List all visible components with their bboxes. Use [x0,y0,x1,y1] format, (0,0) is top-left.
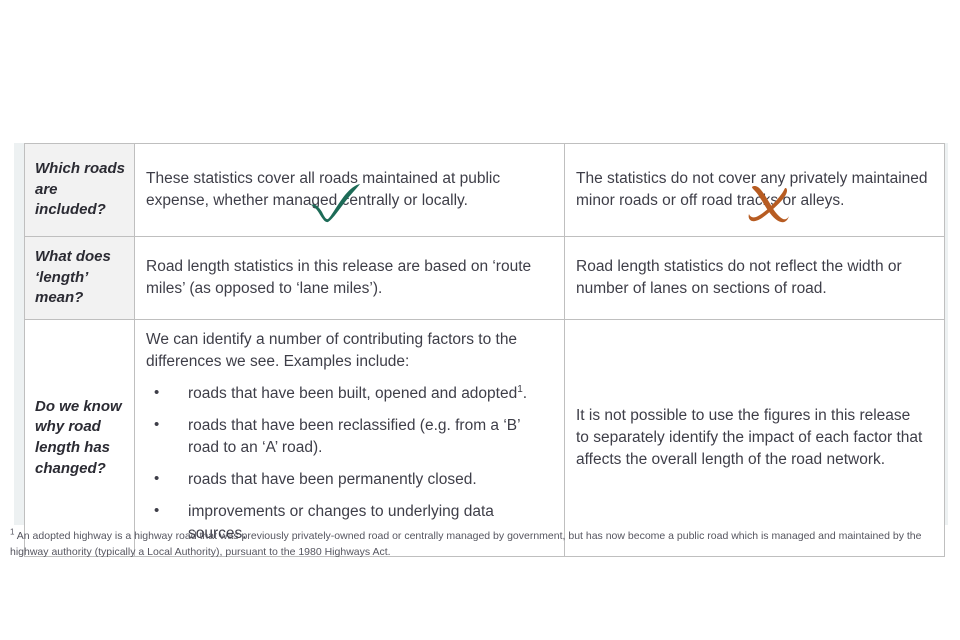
row-question-label: Which roads are included? [25,144,135,237]
list-item-suffix: . [523,385,527,402]
list-item-label: roads that have been permanently closed. [188,471,477,488]
bullet-icon: • [154,414,159,435]
bullet-icon: • [154,500,159,521]
row-question-label: Do we know why road length has changed? [25,320,135,557]
do-text-line: We can identify a number of contributing… [146,329,552,351]
row-do-cell: We can identify a number of contributing… [135,320,565,557]
bullet-icon: • [154,468,159,489]
list-item-label: roads that have been built, opened and a… [188,385,517,402]
slide-canvas: Interpreting these statistics Which road… [0,0,960,640]
list-item-label: roads that have been reclassified (e.g. … [188,417,520,456]
do-text-line: differences we see. Examples include: [146,351,552,373]
table-row: Do we know why road length has changed? … [25,320,945,557]
dont-text-line: minor roads or off road tracks or alleys… [576,190,932,212]
row-dont-cell: Road length statistics do not reflect th… [565,237,945,320]
do-text-line: These statistics cover all roads maintai… [146,168,552,190]
table-row: Which roads are included? These statisti… [25,144,945,237]
table-row: What does ‘length’ mean? Road length sta… [25,237,945,320]
footnote-text: An adopted highway is a highway road tha… [10,530,922,558]
row-dont-cell: The statistics do not cover any privatel… [565,144,945,237]
dont-text-line: affects the overall length of the road n… [576,449,932,471]
footnote: 1 An adopted highway is a highway road t… [10,528,954,561]
row-do-cell: These statistics cover all roads maintai… [135,144,565,237]
dont-text-line: The statistics do not cover any privatel… [576,168,932,190]
dont-text-line: Road length statistics do not reflect th… [576,256,932,278]
row-dont-cell: It is not possible to use the figures in… [565,320,945,557]
do-text-line: miles’ (as opposed to ‘lane miles’). [146,278,552,300]
do-text-line: expense, whether managed centrally or lo… [146,190,552,212]
interpreting-statistics-table: Which roads are included? These statisti… [24,143,945,557]
list-item: • roads that have been built, opened and… [146,383,552,405]
do-text-line: Road length statistics in this release a… [146,256,552,278]
dont-text-line: number of lanes on sections of road. [576,278,932,300]
interpreting-statistics-table-wrapper: Which roads are included? These statisti… [24,143,944,522]
dont-text-line: It is not possible to use the figures in… [576,405,932,427]
contributing-factors-list: • roads that have been built, opened and… [146,383,552,545]
list-item: • roads that have been permanently close… [146,469,552,491]
bullet-icon: • [154,382,159,403]
dont-text-line: to separately identify the impact of eac… [576,427,932,449]
row-do-cell: Road length statistics in this release a… [135,237,565,320]
list-item: • roads that have been reclassified (e.g… [146,415,552,459]
row-question-label: What does ‘length’ mean? [25,237,135,320]
